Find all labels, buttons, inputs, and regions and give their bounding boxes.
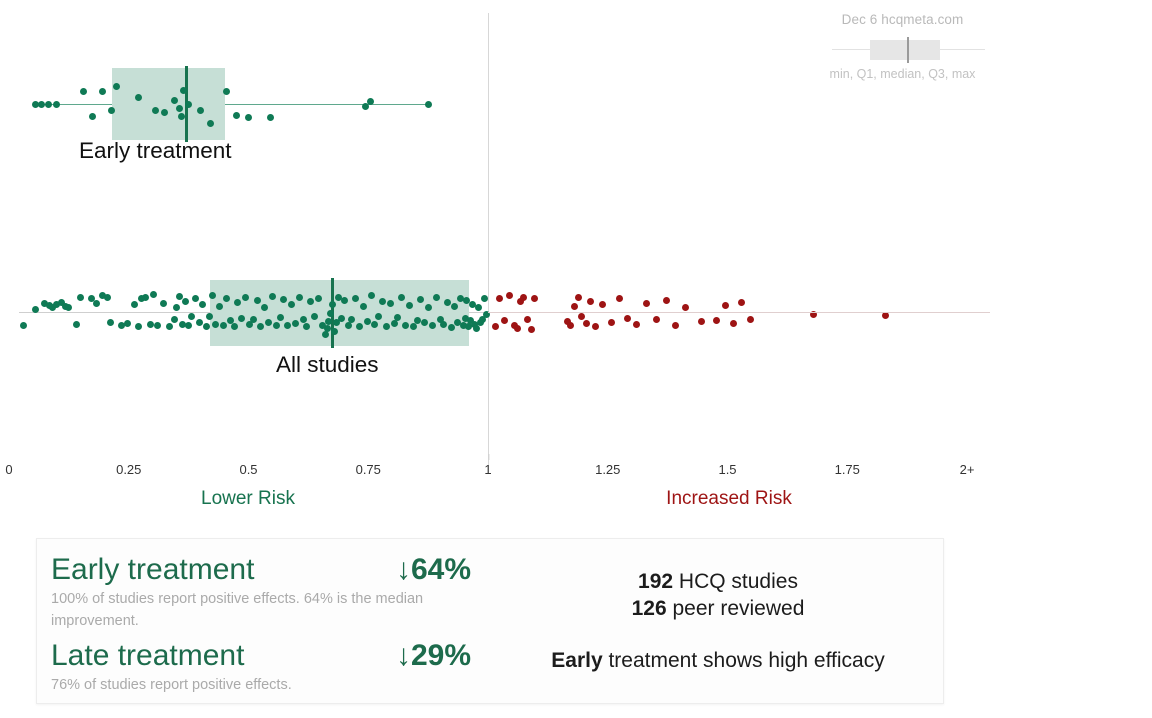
data-point bbox=[265, 319, 272, 326]
data-point bbox=[142, 294, 149, 301]
data-point bbox=[124, 320, 131, 327]
data-point bbox=[296, 294, 303, 301]
axis-tick-0.5: 0.5 bbox=[239, 462, 257, 477]
axis-tick-1.25: 1.25 bbox=[595, 462, 620, 477]
row-label-all-studies: All studies bbox=[276, 352, 379, 378]
data-point bbox=[292, 320, 299, 327]
conclusion-emphasis: Early bbox=[551, 649, 602, 672]
data-point bbox=[713, 317, 720, 324]
data-point bbox=[89, 113, 96, 120]
data-point bbox=[171, 316, 178, 323]
data-point bbox=[475, 304, 482, 311]
data-point bbox=[131, 301, 138, 308]
data-point bbox=[682, 304, 689, 311]
data-point bbox=[65, 304, 72, 311]
data-point bbox=[238, 315, 245, 322]
data-point bbox=[135, 94, 142, 101]
data-point bbox=[738, 299, 745, 306]
data-point bbox=[300, 316, 307, 323]
data-point bbox=[147, 321, 154, 328]
data-point bbox=[104, 294, 111, 301]
data-point bbox=[360, 303, 367, 310]
data-point bbox=[341, 297, 348, 304]
data-point bbox=[433, 294, 440, 301]
plot-area: Early treatment All studies Lower Risk I… bbox=[0, 0, 1000, 520]
data-point bbox=[583, 320, 590, 327]
data-point bbox=[379, 298, 386, 305]
data-point bbox=[501, 317, 508, 324]
data-point bbox=[160, 300, 167, 307]
data-point bbox=[203, 323, 210, 330]
data-point bbox=[496, 295, 503, 302]
data-point bbox=[182, 298, 189, 305]
data-point bbox=[599, 301, 606, 308]
axis-label-increased-risk: Increased Risk bbox=[666, 488, 792, 510]
axis-tick-1.75: 1.75 bbox=[835, 462, 860, 477]
data-point bbox=[73, 321, 80, 328]
summary-studies-count: 192 HCQ studies bbox=[493, 570, 943, 594]
data-point bbox=[331, 328, 338, 335]
axis-label-lower-risk: Lower Risk bbox=[201, 488, 295, 510]
data-point bbox=[387, 300, 394, 307]
data-point bbox=[514, 325, 521, 332]
series-row-early-treatment bbox=[0, 60, 1000, 140]
x-axis: Lower Risk Increased Risk 00.250.50.7511… bbox=[0, 462, 1000, 518]
data-point bbox=[207, 120, 214, 127]
data-point bbox=[520, 294, 527, 301]
data-point bbox=[567, 322, 574, 329]
data-point bbox=[20, 322, 27, 329]
data-point bbox=[882, 312, 889, 319]
data-point bbox=[188, 313, 195, 320]
data-point bbox=[53, 101, 60, 108]
data-point bbox=[93, 300, 100, 307]
data-point bbox=[338, 315, 345, 322]
data-point bbox=[531, 295, 538, 302]
axis-tick-0.75: 0.75 bbox=[356, 462, 381, 477]
data-point bbox=[223, 88, 230, 95]
data-point bbox=[242, 294, 249, 301]
axis-tick-0: 0 bbox=[5, 462, 12, 477]
data-point bbox=[185, 101, 192, 108]
data-point bbox=[171, 97, 178, 104]
data-point bbox=[199, 301, 206, 308]
peer-count-label: peer reviewed bbox=[667, 597, 805, 620]
data-point bbox=[254, 297, 261, 304]
data-point bbox=[99, 88, 106, 95]
summary-left-column: Early treatment ↓64% 100% of studies rep… bbox=[37, 539, 493, 703]
data-point bbox=[364, 318, 371, 325]
series-whisker-line-right bbox=[488, 312, 990, 313]
data-point bbox=[80, 88, 87, 95]
conclusion-rest: treatment shows high efficacy bbox=[603, 649, 885, 672]
data-point bbox=[269, 293, 276, 300]
series-box bbox=[112, 68, 225, 140]
data-point bbox=[250, 316, 257, 323]
peer-count-value: 126 bbox=[632, 597, 667, 620]
data-point bbox=[166, 323, 173, 330]
data-point bbox=[212, 321, 219, 328]
data-point bbox=[481, 295, 488, 302]
data-point bbox=[288, 301, 295, 308]
summary-peer-reviewed: 126 peer reviewed bbox=[493, 597, 943, 621]
data-point bbox=[154, 322, 161, 329]
summary-early-note: 100% of studies report positive effects.… bbox=[51, 588, 451, 633]
summary-early-title: Early treatment bbox=[51, 553, 254, 587]
data-point bbox=[616, 295, 623, 302]
data-point bbox=[608, 319, 615, 326]
data-point bbox=[322, 331, 329, 338]
data-point bbox=[575, 294, 582, 301]
data-point bbox=[492, 323, 499, 330]
data-point bbox=[150, 291, 157, 298]
studies-count-label: HCQ studies bbox=[673, 570, 798, 593]
data-point bbox=[528, 326, 535, 333]
data-point bbox=[267, 114, 274, 121]
summary-early-block: Early treatment ↓64% 100% of studies rep… bbox=[51, 553, 493, 633]
axis-tick-mark bbox=[488, 454, 489, 460]
data-point bbox=[216, 303, 223, 310]
data-point bbox=[178, 113, 185, 120]
data-point bbox=[107, 319, 114, 326]
data-point bbox=[261, 304, 268, 311]
axis-tick-1.5: 1.5 bbox=[718, 462, 736, 477]
summary-late-block: Late treatment ↓29% 76% of studies repor… bbox=[51, 639, 493, 696]
data-point bbox=[45, 101, 52, 108]
data-point bbox=[414, 317, 421, 324]
data-point bbox=[368, 292, 375, 299]
studies-count-value: 192 bbox=[638, 570, 673, 593]
data-point bbox=[383, 323, 390, 330]
data-point bbox=[730, 320, 737, 327]
data-point bbox=[391, 320, 398, 327]
data-point bbox=[747, 316, 754, 323]
data-point bbox=[185, 322, 192, 329]
series-box bbox=[210, 280, 469, 346]
row-label-early-treatment: Early treatment bbox=[79, 138, 232, 164]
data-point bbox=[633, 321, 640, 328]
data-point bbox=[32, 306, 39, 313]
axis-tick-1: 1 bbox=[484, 462, 491, 477]
data-point bbox=[473, 325, 480, 332]
data-point bbox=[653, 316, 660, 323]
data-point bbox=[672, 322, 679, 329]
data-point bbox=[524, 316, 531, 323]
data-point bbox=[663, 297, 670, 304]
data-point bbox=[722, 302, 729, 309]
data-point bbox=[425, 101, 432, 108]
summary-late-percent: ↓29% bbox=[396, 639, 471, 673]
series-row-all-studies bbox=[0, 276, 1000, 348]
summary-early-percent: ↓64% bbox=[396, 553, 471, 587]
data-point bbox=[173, 304, 180, 311]
data-point bbox=[233, 112, 240, 119]
data-point bbox=[506, 292, 513, 299]
axis-tick-2+: 2+ bbox=[960, 462, 975, 477]
summary-panel: Early treatment ↓64% 100% of studies rep… bbox=[36, 538, 944, 704]
data-point bbox=[245, 114, 252, 121]
summary-right-column: 192 HCQ studies 126 peer reviewed Early … bbox=[493, 539, 943, 703]
summary-conclusion: Early treatment shows high efficacy bbox=[493, 649, 943, 673]
data-point bbox=[571, 303, 578, 310]
data-point bbox=[135, 323, 142, 330]
data-point bbox=[587, 298, 594, 305]
data-point bbox=[77, 294, 84, 301]
data-point bbox=[643, 300, 650, 307]
axis-tick-0.25: 0.25 bbox=[116, 462, 141, 477]
summary-late-title: Late treatment bbox=[51, 639, 244, 673]
data-point bbox=[440, 321, 447, 328]
chart-page: Dec 6 hcqmeta.com min, Q1, median, Q3, m… bbox=[0, 0, 1152, 718]
data-point bbox=[402, 322, 409, 329]
data-point bbox=[406, 302, 413, 309]
data-point bbox=[624, 315, 631, 322]
data-point bbox=[277, 314, 284, 321]
data-point bbox=[192, 295, 199, 302]
data-point bbox=[592, 323, 599, 330]
data-point bbox=[315, 295, 322, 302]
data-point bbox=[273, 322, 280, 329]
data-point bbox=[176, 105, 183, 112]
data-point bbox=[206, 313, 213, 320]
data-point bbox=[231, 323, 238, 330]
data-point bbox=[152, 107, 159, 114]
summary-late-note: 76% of studies report positive effects. bbox=[51, 674, 451, 696]
data-point bbox=[698, 318, 705, 325]
